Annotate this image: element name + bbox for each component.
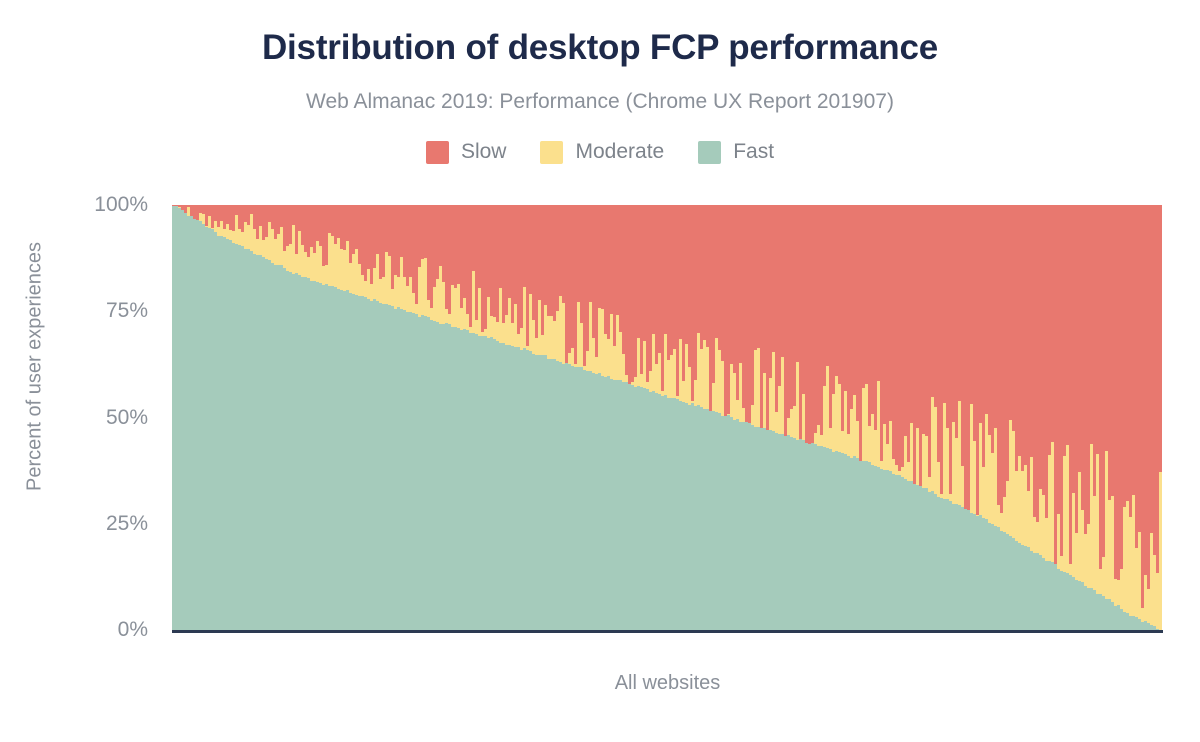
x-axis-line [172, 630, 1163, 633]
chart-legend: Slow Moderate Fast [0, 140, 1200, 164]
bar-segment-slow [1159, 205, 1162, 472]
plot-area [172, 205, 1163, 630]
legend-item-moderate[interactable]: Moderate [540, 140, 664, 164]
stacked-bars [172, 205, 1163, 630]
y-tick-25: 25% [0, 512, 160, 536]
bar[interactable] [1159, 205, 1162, 630]
legend-label-fast: Fast [733, 140, 774, 164]
chart-container: Distribution of desktop FCP performance … [0, 0, 1200, 742]
legend-swatch-slow [426, 141, 449, 164]
chart-subtitle: Web Almanac 2019: Performance (Chrome UX… [0, 90, 1200, 114]
legend-item-fast[interactable]: Fast [698, 140, 774, 164]
x-axis-title: All websites [172, 672, 1163, 695]
legend-label-slow: Slow [461, 140, 507, 164]
legend-item-slow[interactable]: Slow [426, 140, 507, 164]
bar-segment-moderate [1159, 472, 1162, 630]
legend-label-moderate: Moderate [575, 140, 664, 164]
legend-swatch-moderate [540, 141, 563, 164]
legend-swatch-fast [698, 141, 721, 164]
y-tick-100: 100% [0, 193, 160, 217]
y-tick-0: 0% [0, 618, 160, 642]
chart-title: Distribution of desktop FCP performance [0, 28, 1200, 68]
y-axis-title: Percent of user experiences [24, 227, 47, 507]
